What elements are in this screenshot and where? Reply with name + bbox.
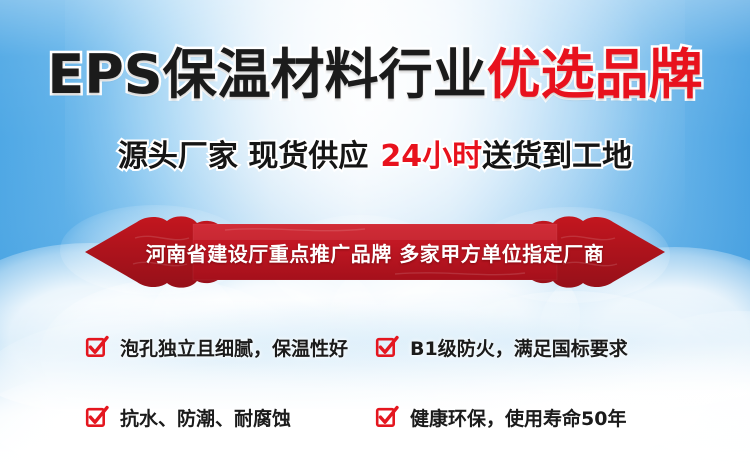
headline: EPS保温材料行业优选品牌 xyxy=(0,48,750,102)
feature-label: B1级防火，满足国标要求 xyxy=(410,334,628,361)
subheadline-part-two: 送货到工地 xyxy=(482,139,632,174)
certification-ribbon: 河南省建设厅重点推广品牌 多家甲方单位指定厂商 xyxy=(75,214,675,290)
feature-item: 健康环保，使用寿命50年 xyxy=(375,404,665,431)
checkbox-checked-icon xyxy=(375,405,399,429)
feature-label: 泡孔独立且细腻，保温性好 xyxy=(120,334,348,361)
subheadline-part-one: 源头厂家 现货供应 xyxy=(118,139,368,174)
feature-row: 抗水、防潮、耐腐蚀 健康环保，使用寿命50年 xyxy=(85,388,665,446)
ribbon-label: 河南省建设厅重点推广品牌 多家甲方单位指定厂商 xyxy=(75,214,675,290)
promo-banner: EPS保温材料行业优选品牌 源头厂家 现货供应24小时送货到工地 xyxy=(0,0,750,471)
checkbox-checked-icon xyxy=(85,335,109,359)
feature-label: 抗水、防潮、耐腐蚀 xyxy=(120,404,291,431)
feature-item: 泡孔独立且细腻，保温性好 xyxy=(85,334,375,361)
subheadline: 源头厂家 现货供应24小时送货到工地 xyxy=(0,142,750,172)
headline-primary-text: EPS保温材料行业 xyxy=(47,43,486,106)
feature-item: B1级防火，满足国标要求 xyxy=(375,334,665,361)
checkbox-checked-icon xyxy=(85,405,109,429)
feature-row: 泡孔独立且细腻，保温性好 B1级防火，满足国标要求 xyxy=(85,318,665,376)
subheadline-highlight: 24小时 xyxy=(380,139,482,174)
checkbox-checked-icon xyxy=(375,335,399,359)
feature-label: 健康环保，使用寿命50年 xyxy=(410,404,626,431)
feature-item: 抗水、防潮、耐腐蚀 xyxy=(85,404,375,431)
feature-list: 泡孔独立且细腻，保温性好 B1级防火，满足国标要求 xyxy=(85,318,665,446)
headline-accent-text: 优选品牌 xyxy=(487,43,703,106)
